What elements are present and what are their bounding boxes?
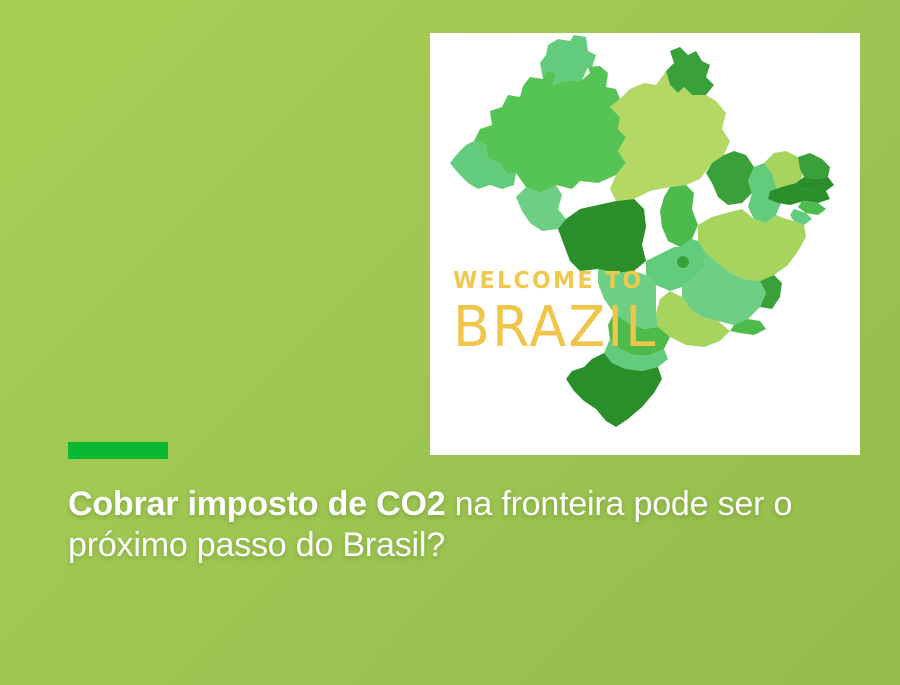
- headline-strong: Cobrar imposto de CO2: [68, 485, 445, 523]
- brazil-text: BRAZIL: [453, 299, 657, 355]
- map-stage: WELCOME TO BRAZIL: [430, 33, 860, 455]
- region-amapa: [666, 47, 714, 95]
- page-title: Cobrar imposto de CO2 na fronteira pode …: [68, 484, 858, 566]
- region-rio-grande-do-norte: [798, 153, 830, 179]
- region-mato-grosso: [558, 199, 646, 273]
- region-distrito-federal: [677, 256, 689, 268]
- welcome-to-text: WELCOME TO: [453, 270, 657, 293]
- brazil-map-card: WELCOME TO BRAZIL: [430, 33, 860, 455]
- welcome-lettering: WELCOME TO BRAZIL: [453, 270, 657, 353]
- accent-bar: [68, 442, 168, 459]
- poster-canvas: WELCOME TO BRAZIL Cobrar imposto de CO2 …: [0, 0, 900, 685]
- brazil-map-svg: [430, 33, 860, 455]
- region-tocantins: [660, 185, 698, 247]
- map-regions: [450, 35, 834, 427]
